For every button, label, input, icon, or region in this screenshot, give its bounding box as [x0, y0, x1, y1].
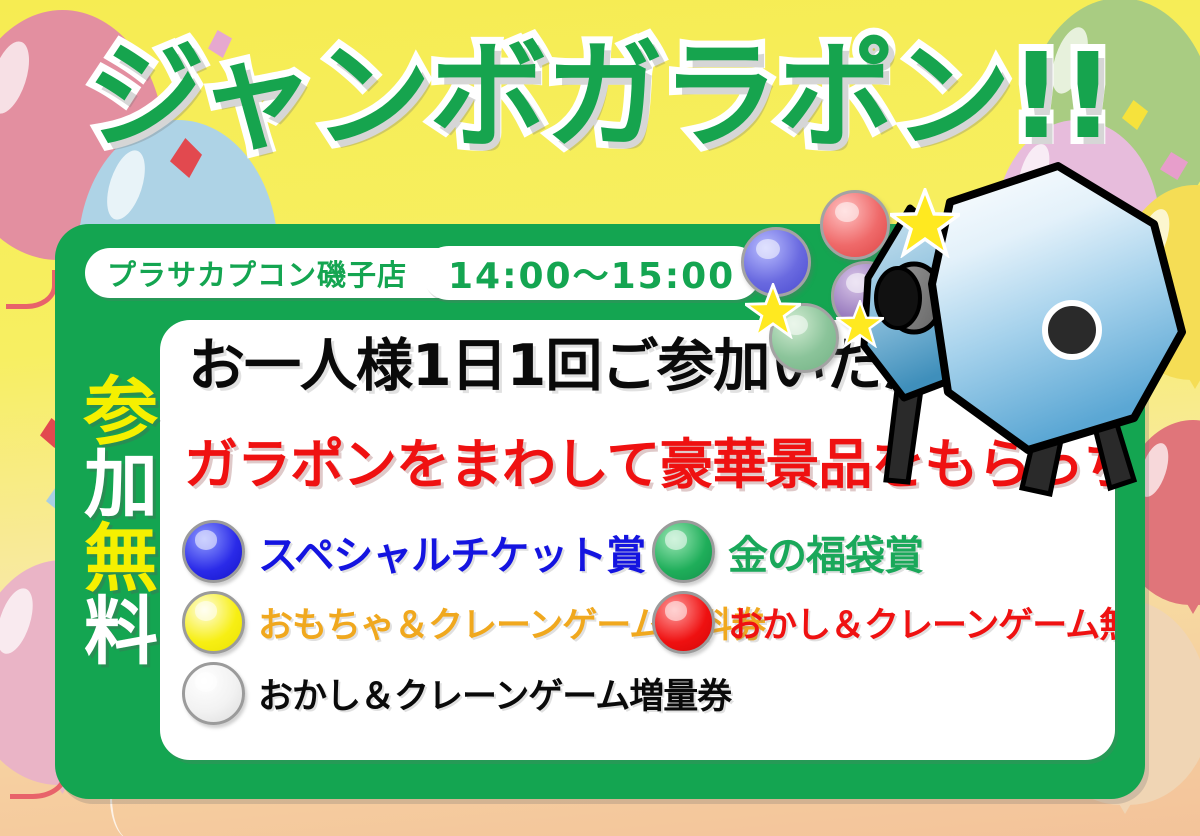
- ball-highlight: [195, 530, 218, 549]
- lottery-ball-red-icon: [652, 591, 715, 654]
- prize-item-snack-crane-bonus: おかし＆クレーンゲーム増量券: [182, 662, 652, 725]
- star-icon: [836, 300, 884, 348]
- prize-row: おもちゃ＆クレーンゲーム無料券 おかし＆クレーンゲーム無料券: [182, 591, 1112, 654]
- prize-row: スペシャルチケット賞 金の福袋賞: [182, 520, 1112, 583]
- free-char-2: 加: [84, 449, 158, 522]
- free-entry-vertical-banner: 参 加 無 料: [79, 376, 163, 669]
- streamer-red-topleft: [6, 270, 57, 309]
- free-char-3: 無: [84, 523, 158, 596]
- lottery-ball-blue-icon: [182, 520, 245, 583]
- star-icon: [890, 188, 960, 258]
- prize-row: おかし＆クレーンゲーム増量券: [182, 662, 1112, 725]
- prize-item-gold-lucky-bag: 金の福袋賞: [652, 520, 1102, 583]
- prize-label: おかし＆クレーンゲーム増量券: [258, 668, 731, 719]
- prize-label: おかし＆クレーンゲーム無料券: [728, 597, 1115, 648]
- ball-highlight: [756, 239, 780, 259]
- lottery-ball-yellow-icon: [182, 591, 245, 654]
- ball-highlight: [195, 601, 218, 620]
- prize-item-snack-crane-free: おかし＆クレーンゲーム無料券: [652, 591, 1102, 654]
- poster-canvas: ジャンボガラポン!! プラサカプコン磯子店 店内 14:00〜15:00 参 加…: [0, 0, 1200, 836]
- free-char-1: 参: [84, 376, 158, 449]
- ball-highlight: [665, 601, 688, 620]
- ball-highlight: [195, 672, 218, 691]
- lottery-ball-white-icon: [182, 662, 245, 725]
- ball-highlight: [665, 530, 688, 549]
- prize-label: スペシャルチケット賞: [258, 523, 645, 581]
- prize-item-toy-crane-free: おもちゃ＆クレーンゲーム無料券: [182, 591, 652, 654]
- event-time-pill: 14:00〜15:00: [422, 246, 761, 300]
- free-char-4: 料: [84, 596, 158, 669]
- poster-title-wrap: ジャンボガラポン!!: [0, 36, 1200, 156]
- poster-title: ジャンボガラポン!!: [87, 36, 1113, 156]
- lottery-ball-green-icon: [652, 520, 715, 583]
- prize-label: 金の福袋賞: [728, 523, 923, 581]
- prize-list: スペシャルチケット賞 金の福袋賞 おもちゃ＆クレーンゲーム無料: [182, 520, 1112, 725]
- prize-item-special-ticket: スペシャルチケット賞: [182, 520, 652, 583]
- balloon-shine: [0, 584, 39, 657]
- star-icon: [745, 283, 801, 339]
